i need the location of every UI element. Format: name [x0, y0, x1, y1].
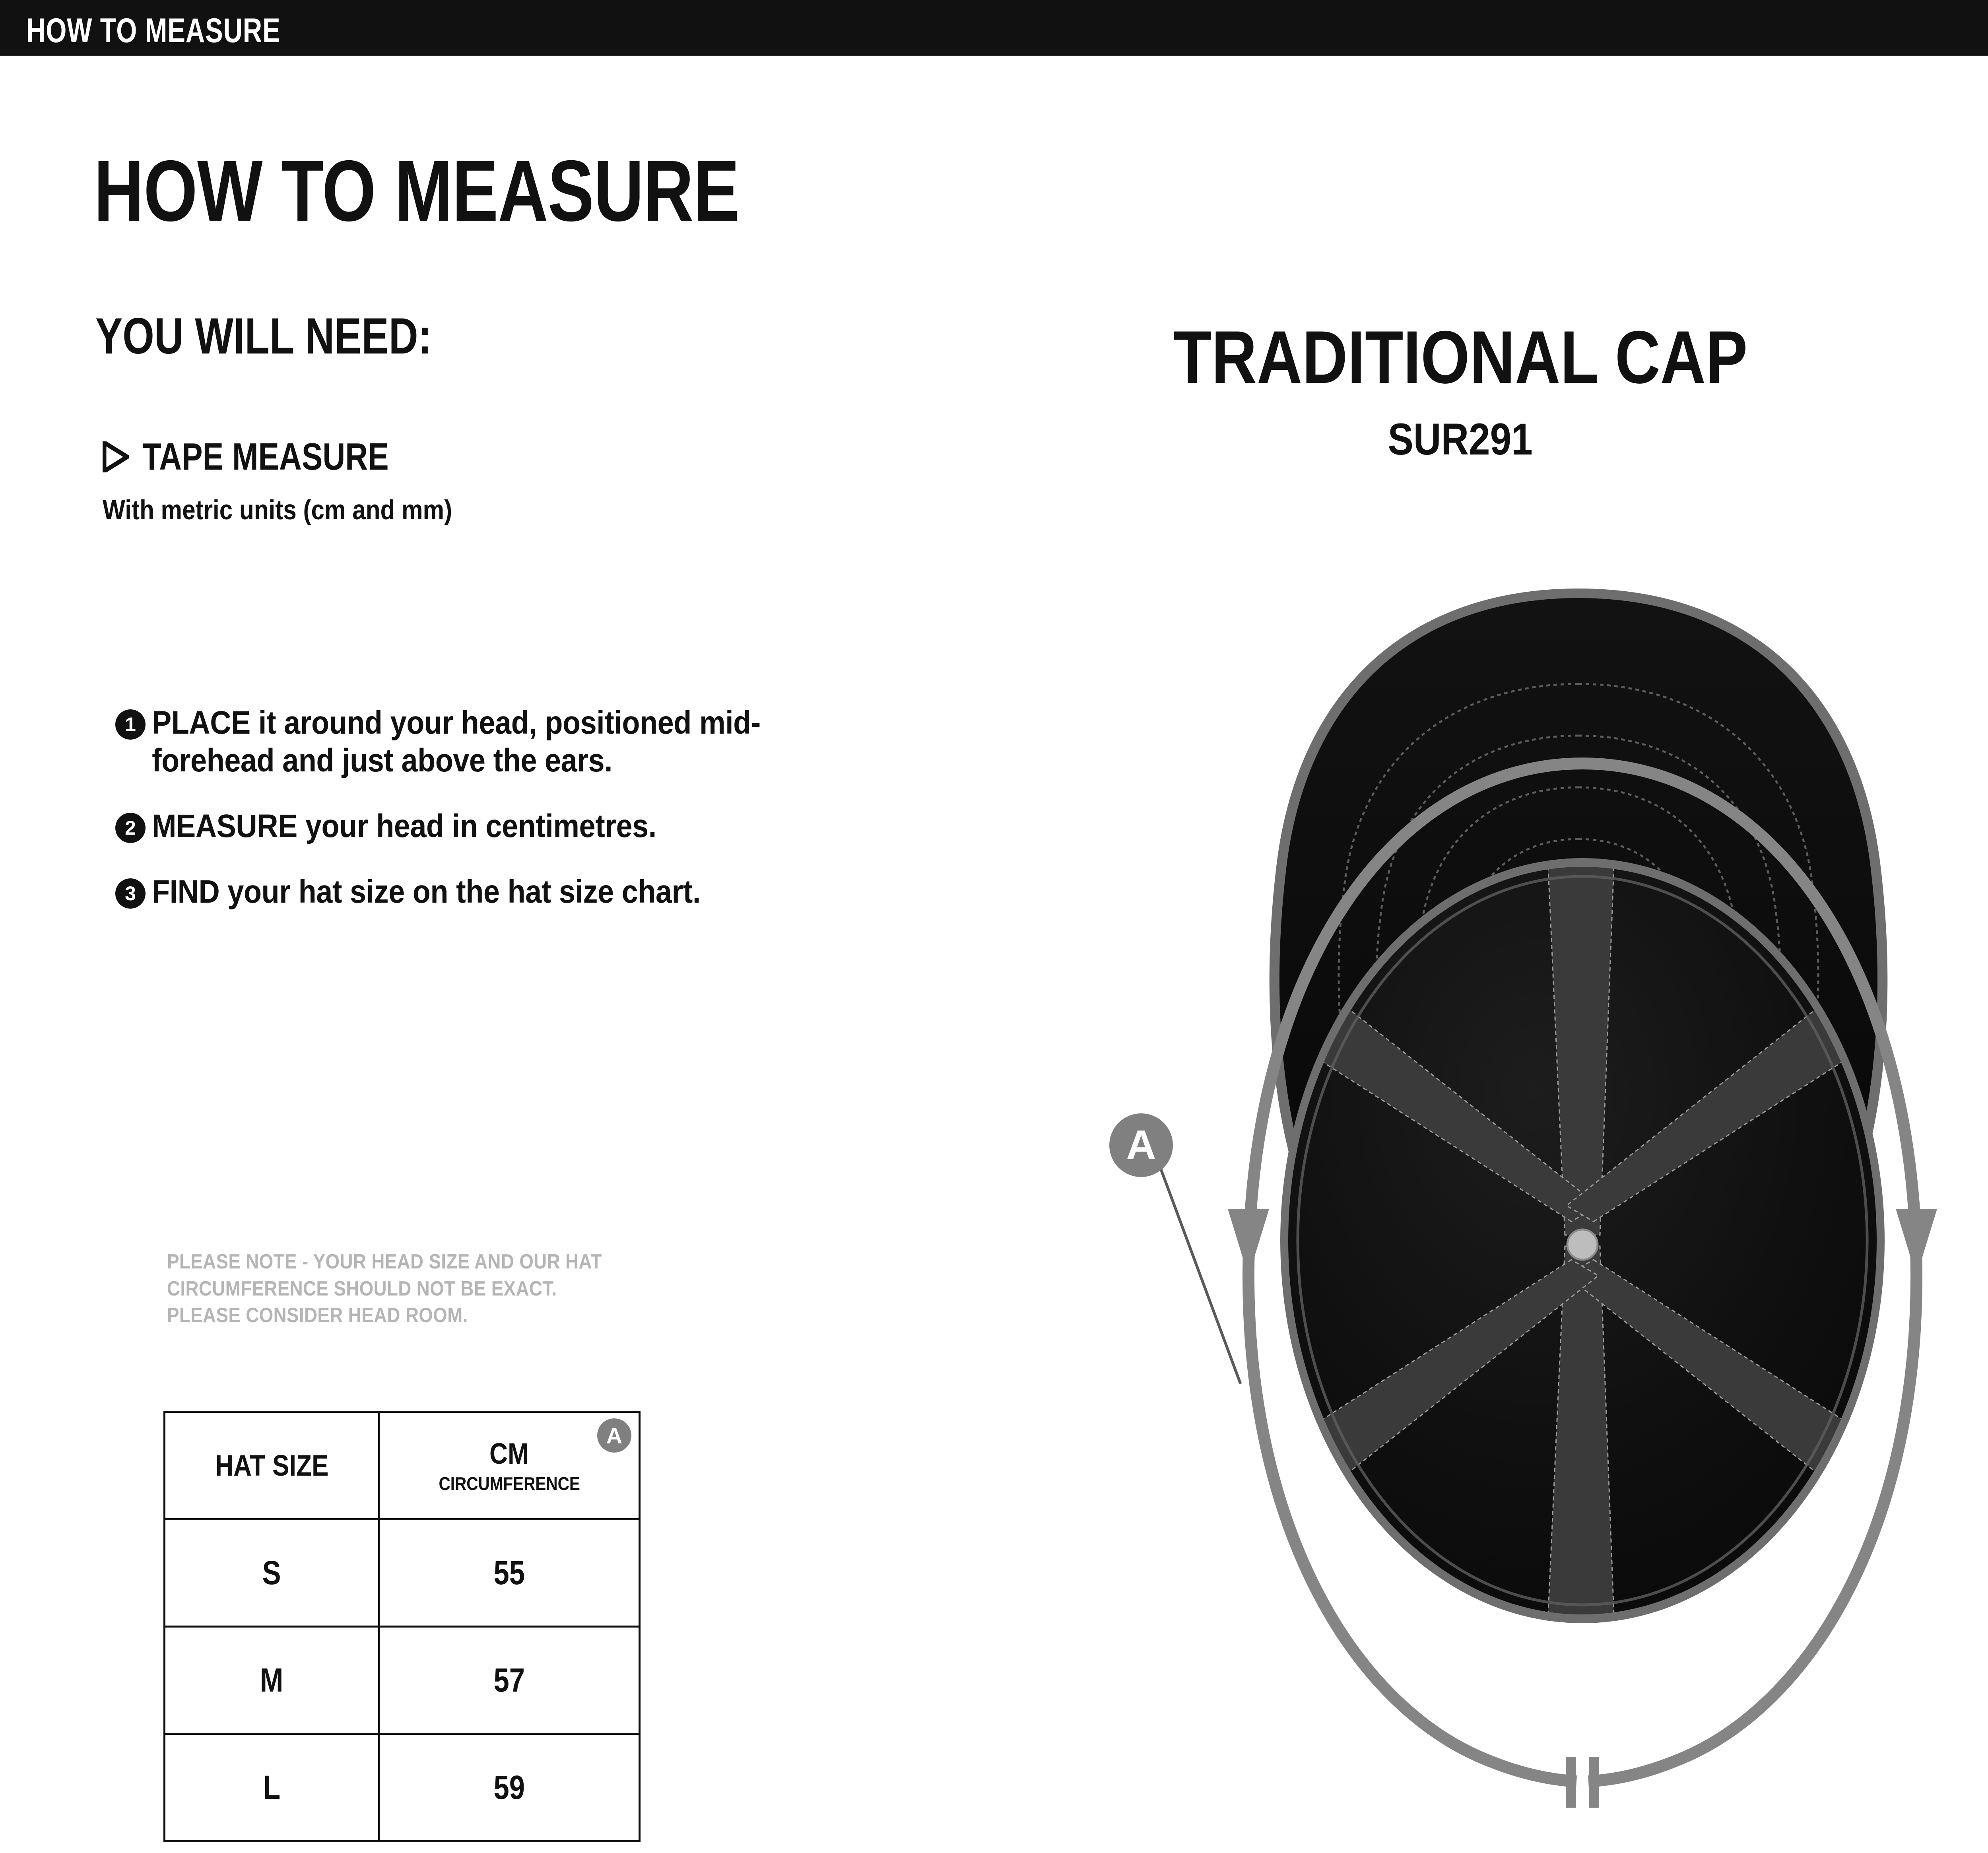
step-text: MEASURE your head in centimetres. — [152, 807, 788, 845]
please-note-text: PLEASE NOTE - YOUR HEAD SIZE AND OUR HAT… — [167, 1249, 602, 1329]
measurement-a-badge: A — [597, 1418, 631, 1453]
crown-button-icon — [1567, 1230, 1598, 1260]
step-number-badge: 1 — [115, 709, 146, 740]
step-item: 3 FIND your hat size on the hat size cha… — [115, 873, 859, 911]
step-number-badge: 3 — [115, 878, 146, 909]
cell-hat-size: L — [165, 1734, 379, 1841]
measure-tick-right — [1589, 1757, 1599, 1808]
top-bar: HOW TO MEASURE SURRIDGE — [0, 0, 1988, 56]
hat-size-value: M — [260, 1661, 283, 1700]
step-text: FIND your hat size on the hat size chart… — [152, 873, 788, 911]
product-title: TRADITIONAL CAP — [1173, 314, 1747, 400]
page-title: HOW TO MEASURE — [94, 142, 739, 241]
table-header-hat-size: HAT SIZE — [165, 1412, 379, 1519]
hat-size-table: HAT SIZE CM CIRCUMFERENCE A S 55 M 57 L … — [163, 1411, 641, 1842]
table-header-row: HAT SIZE CM CIRCUMFERENCE A — [165, 1412, 640, 1519]
cell-hat-size: S — [165, 1519, 379, 1627]
measure-arrow-left — [1228, 1209, 1269, 1276]
hat-size-value: S — [262, 1554, 281, 1592]
measure-tick-left — [1566, 1757, 1576, 1808]
diagram-callout-a-badge: A — [1109, 1113, 1173, 1177]
cell-hat-size: M — [165, 1627, 379, 1734]
table-row: L 59 — [165, 1734, 640, 1841]
cell-cm: 59 — [379, 1734, 639, 1841]
instruction-steps: 1 PLACE it around your head, positioned … — [115, 704, 859, 938]
callout-leader-line — [1149, 1137, 1241, 1384]
cm-value: 59 — [494, 1768, 525, 1807]
product-code: SUR291 — [1388, 414, 1532, 465]
table-row: M 57 — [165, 1627, 640, 1734]
product-title-wrap: TRADITIONAL CAP — [0, 314, 1988, 400]
cap-diagram — [1070, 565, 1988, 1853]
cell-cm: 57 — [379, 1627, 639, 1734]
how-to-measure-page: HOW TO MEASURE SURRIDGE HOW TO MEASURE Y… — [0, 0, 1988, 1853]
top-bar-title: HOW TO MEASURE — [26, 11, 281, 51]
product-code-wrap: SUR291 — [0, 414, 1988, 465]
table-header-cm-label: CM — [489, 1437, 529, 1470]
step-text: PLACE it around your head, positioned mi… — [152, 704, 788, 779]
need-item-subtext: With metric units (cm and mm) — [103, 494, 452, 526]
hat-size-value: L — [263, 1768, 280, 1807]
cm-value: 57 — [494, 1661, 525, 1700]
step-number-badge: 2 — [115, 813, 146, 843]
table-header-circumference-label: CIRCUMFERENCE — [396, 1473, 623, 1494]
measure-arrow-right — [1896, 1209, 1937, 1276]
table-row: S 55 — [165, 1519, 640, 1627]
table-header-cm: CM CIRCUMFERENCE A — [379, 1412, 639, 1519]
cm-value: 55 — [494, 1554, 525, 1592]
table-header-hat-size-label: HAT SIZE — [215, 1449, 328, 1482]
step-item: 1 PLACE it around your head, positioned … — [115, 704, 859, 779]
cell-cm: 55 — [379, 1519, 639, 1627]
step-item: 2 MEASURE your head in centimetres. — [115, 807, 859, 845]
